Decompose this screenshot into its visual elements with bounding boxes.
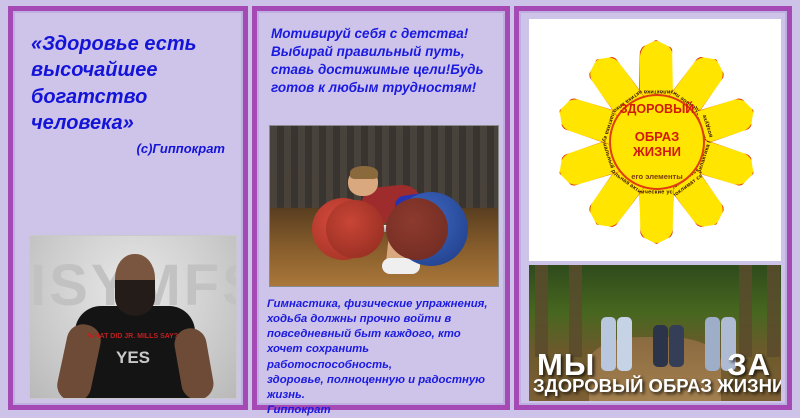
- right-panel-inner: Профилактика СПИДПолноценное питаниеПреб…: [519, 11, 787, 405]
- passage-line-3: повседневный быт каждого, кто: [267, 327, 495, 342]
- person-leg: [705, 317, 720, 371]
- tree-trunk: [535, 265, 548, 357]
- figure-beard: [115, 280, 155, 316]
- quote-line-2: высочайшее: [31, 57, 225, 83]
- motto-line-4: готов к любым трудностям!: [271, 79, 493, 97]
- quote-line-1: «Здоровье есть: [31, 31, 225, 57]
- healthy-lifestyle-flower-diagram: Профилактика СПИДПолноценное питаниеПреб…: [529, 19, 781, 261]
- person-leg: [721, 317, 736, 371]
- child-leg: [669, 325, 684, 367]
- hippocrates-quote: «Здоровье есть высочайшее богатство чело…: [15, 13, 241, 137]
- left-panel-inner: «Здоровье есть высочайшее богатство чело…: [13, 11, 243, 405]
- flower-center-title: ЗДОРОВЫЙ: [611, 102, 703, 116]
- slide-root: «Здоровье есть высочайшее богатство чело…: [0, 0, 800, 416]
- person-leg: [601, 317, 616, 371]
- flower-center-line2: ЖИЗНИ: [633, 145, 681, 160]
- barbell-plate-brown: [386, 198, 448, 260]
- child-weightlifter-photo: [269, 125, 499, 287]
- barbell-plate-red-inner: [326, 200, 384, 258]
- flower-center-subtitle: ОБРАЗ ЖИЗНИ: [633, 130, 681, 159]
- passage-line-6: жизнь.: [267, 388, 495, 403]
- middle-panel: Мотивируй себя с детства! Выбирай правил…: [252, 6, 510, 410]
- shirt-big-text: YES: [83, 348, 183, 368]
- person-leg: [617, 317, 632, 371]
- tree-trunk: [739, 265, 752, 357]
- motto-line-2: Выбирай правильный путь,: [271, 43, 493, 61]
- passage-line-2: ходьба должны прочно войти в: [267, 312, 495, 327]
- passage-line-1: Гимнастика, физические упражнения,: [267, 297, 495, 312]
- family-walking-photo: МЫ ЗА ЗДОРОВЫЙ ОБРАЗ ЖИЗНИ!: [529, 265, 781, 401]
- child-leg: [653, 325, 668, 367]
- passage-line-4: хочет сохранить работоспособность,: [267, 342, 495, 372]
- boy-hair: [350, 166, 378, 179]
- quote-line-4: человека»: [31, 110, 225, 136]
- flower-center-line1: ОБРАЗ: [633, 130, 681, 145]
- tree-trunk: [569, 265, 582, 357]
- right-panel: Профилактика СПИДПолноценное питаниеПреб…: [514, 6, 792, 410]
- quote-author: (c)Гиппократ: [15, 137, 241, 156]
- motto-line-3: ставь достижимые цели!Будь: [271, 61, 493, 79]
- shirt-top-text: WHAT DID JR. MILLS SAY?: [85, 332, 181, 343]
- motto-line-1: Мотивируй себя с детства!: [271, 25, 493, 43]
- flower-center: ЗДОРОВЫЙ ОБРАЗ ЖИЗНИ его элементы: [609, 94, 705, 190]
- tree-trunk: [767, 265, 780, 357]
- hippocrates-passage: Гимнастика, физические упражнения, ходьб…: [267, 297, 495, 418]
- bodybuilder-photo: ISYMFS WHAT DID JR. MILLS SAY? YES: [29, 235, 237, 399]
- flower-petals-group: Профилактика СПИДПолноценное питаниеПреб…: [537, 25, 773, 255]
- passage-line-5: здоровье, полноценную и радостную: [267, 373, 495, 388]
- motivation-text: Мотивируй себя с детства! Выбирай правил…: [259, 13, 503, 97]
- middle-panel-inner: Мотивируй себя с детства! Выбирай правил…: [257, 11, 505, 405]
- flower-center-caption: его элементы: [611, 172, 703, 181]
- left-panel: «Здоровье есть высочайшее богатство чело…: [8, 6, 248, 410]
- quote-line-3: богатство: [31, 84, 225, 110]
